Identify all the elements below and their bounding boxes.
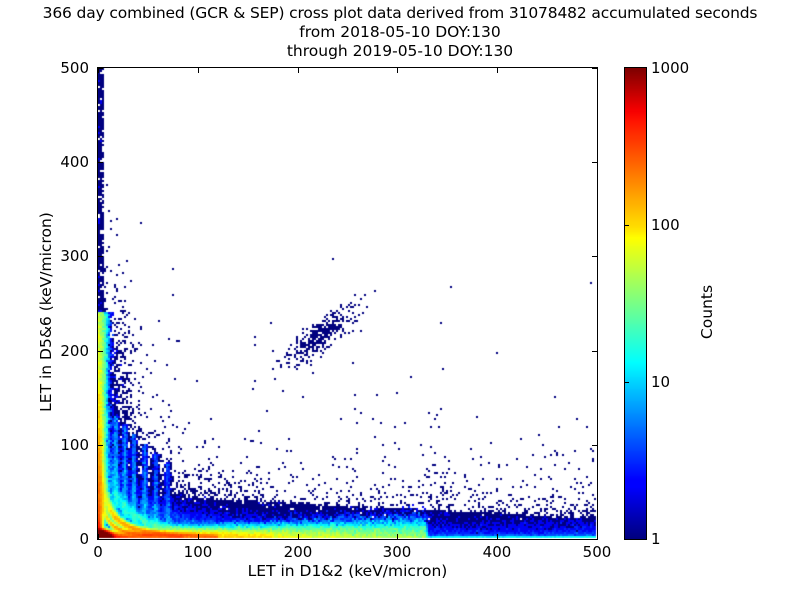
colorbar-tick-100	[624, 225, 629, 226]
density-scatter-canvas	[98, 68, 597, 539]
y-tick-300	[98, 256, 103, 257]
colorbar[interactable]	[624, 67, 647, 540]
y-ticklabel-0: 0	[31, 530, 89, 548]
x-ticklabel-300: 300	[383, 543, 412, 561]
y-ticklabel-400: 400	[31, 153, 89, 171]
y-axis-label: LET in D5&6 (keV/micron)	[37, 192, 55, 432]
y-tick-200	[98, 351, 103, 352]
x-tick-top-400	[497, 68, 498, 73]
y-tick-right-500	[592, 68, 597, 69]
figure-canvas: 366 day combined (GCR & SEP) cross plot …	[0, 0, 800, 600]
title-line-1: 366 day combined (GCR & SEP) cross plot …	[0, 4, 800, 23]
y-tick-right-400	[592, 162, 597, 163]
colorbar-ticklabel-1000: 1000	[651, 59, 689, 77]
x-tick-300	[397, 534, 398, 539]
x-axis-label: LET in D1&2 (keV/micron)	[97, 562, 598, 580]
x-ticklabel-400: 400	[483, 543, 512, 561]
y-tick-right-300	[592, 256, 597, 257]
x-ticklabel-100: 100	[184, 543, 213, 561]
x-ticklabel-200: 200	[284, 543, 313, 561]
x-tick-200	[298, 534, 299, 539]
x-tick-0	[98, 534, 99, 539]
y-tick-right-100	[592, 445, 597, 446]
y-ticklabel-500: 500	[31, 59, 89, 77]
y-tick-0	[98, 539, 103, 540]
y-tick-right-200	[592, 351, 597, 352]
x-tick-top-100	[198, 68, 199, 73]
colorbar-gradient	[624, 67, 647, 540]
x-tick-400	[497, 534, 498, 539]
x-tick-top-300	[397, 68, 398, 73]
colorbar-ticklabel-1: 1	[651, 530, 661, 548]
x-ticklabel-0: 0	[93, 543, 103, 561]
colorbar-title: Counts	[698, 232, 716, 392]
colorbar-ticklabel-100: 100	[651, 216, 680, 234]
x-tick-100	[198, 534, 199, 539]
colorbar-tick-10	[624, 382, 629, 383]
x-tick-500	[597, 534, 598, 539]
y-tick-400	[98, 162, 103, 163]
y-tick-100	[98, 445, 103, 446]
x-ticklabel-500: 500	[583, 543, 612, 561]
x-tick-top-200	[298, 68, 299, 73]
x-tick-top-0	[98, 68, 99, 73]
plot-title: 366 day combined (GCR & SEP) cross plot …	[0, 4, 800, 61]
y-ticklabel-100: 100	[31, 436, 89, 454]
x-tick-top-500	[597, 68, 598, 73]
title-line-2: from 2018-05-10 DOY:130	[0, 23, 800, 42]
colorbar-ticklabel-10: 10	[651, 373, 670, 391]
y-tick-right-0	[592, 539, 597, 540]
plot-area[interactable]	[97, 67, 598, 540]
